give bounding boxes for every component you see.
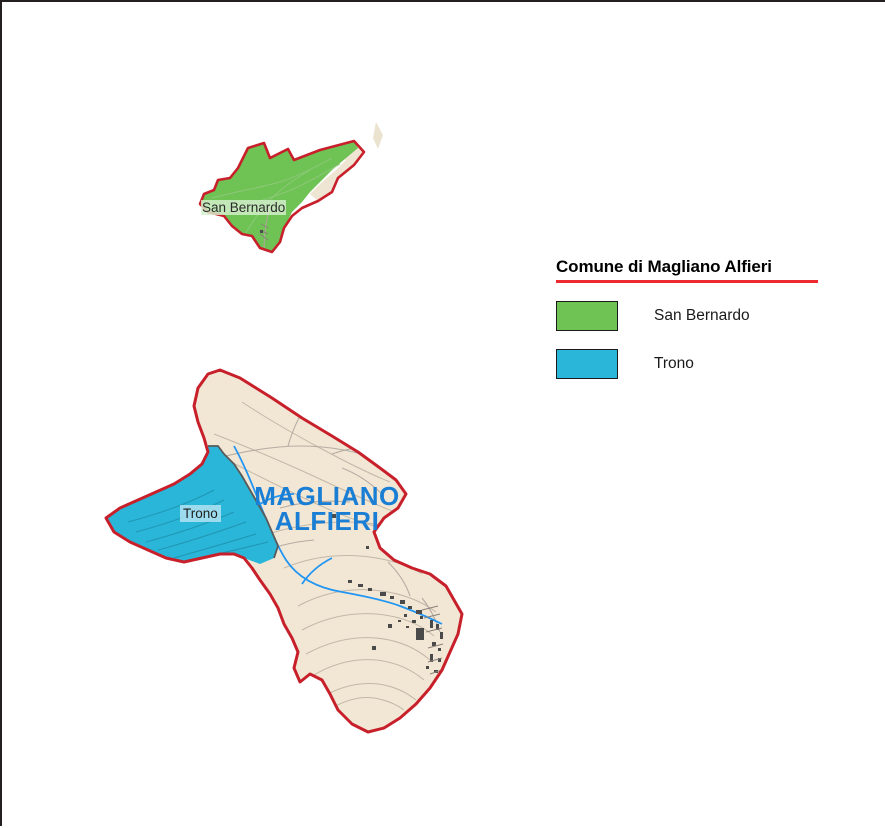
legend-title: Comune di Magliano Alfieri (556, 257, 856, 277)
san-bernardo-fill (200, 141, 358, 252)
detached-sliver (373, 122, 383, 149)
legend-swatch-trono (556, 349, 618, 379)
legend-title-underline (556, 280, 818, 283)
legend-label-trono: Trono (654, 355, 694, 373)
legend: Comune di Magliano Alfieri San Bernardo … (556, 257, 856, 379)
map-page: San Bernardo Trono MAGLIANO ALFIERI Comu… (0, 0, 885, 826)
legend-item-trono: Trono (556, 349, 856, 379)
map-canvas (2, 2, 885, 828)
building (260, 230, 263, 233)
legend-item-san-bernardo: San Bernardo (556, 301, 856, 331)
legend-label-san-bernardo: San Bernardo (654, 307, 750, 325)
territory-magliano-alfieri (106, 370, 462, 732)
legend-swatch-san-bernardo (556, 301, 618, 331)
enclave-san-bernardo (200, 122, 383, 252)
